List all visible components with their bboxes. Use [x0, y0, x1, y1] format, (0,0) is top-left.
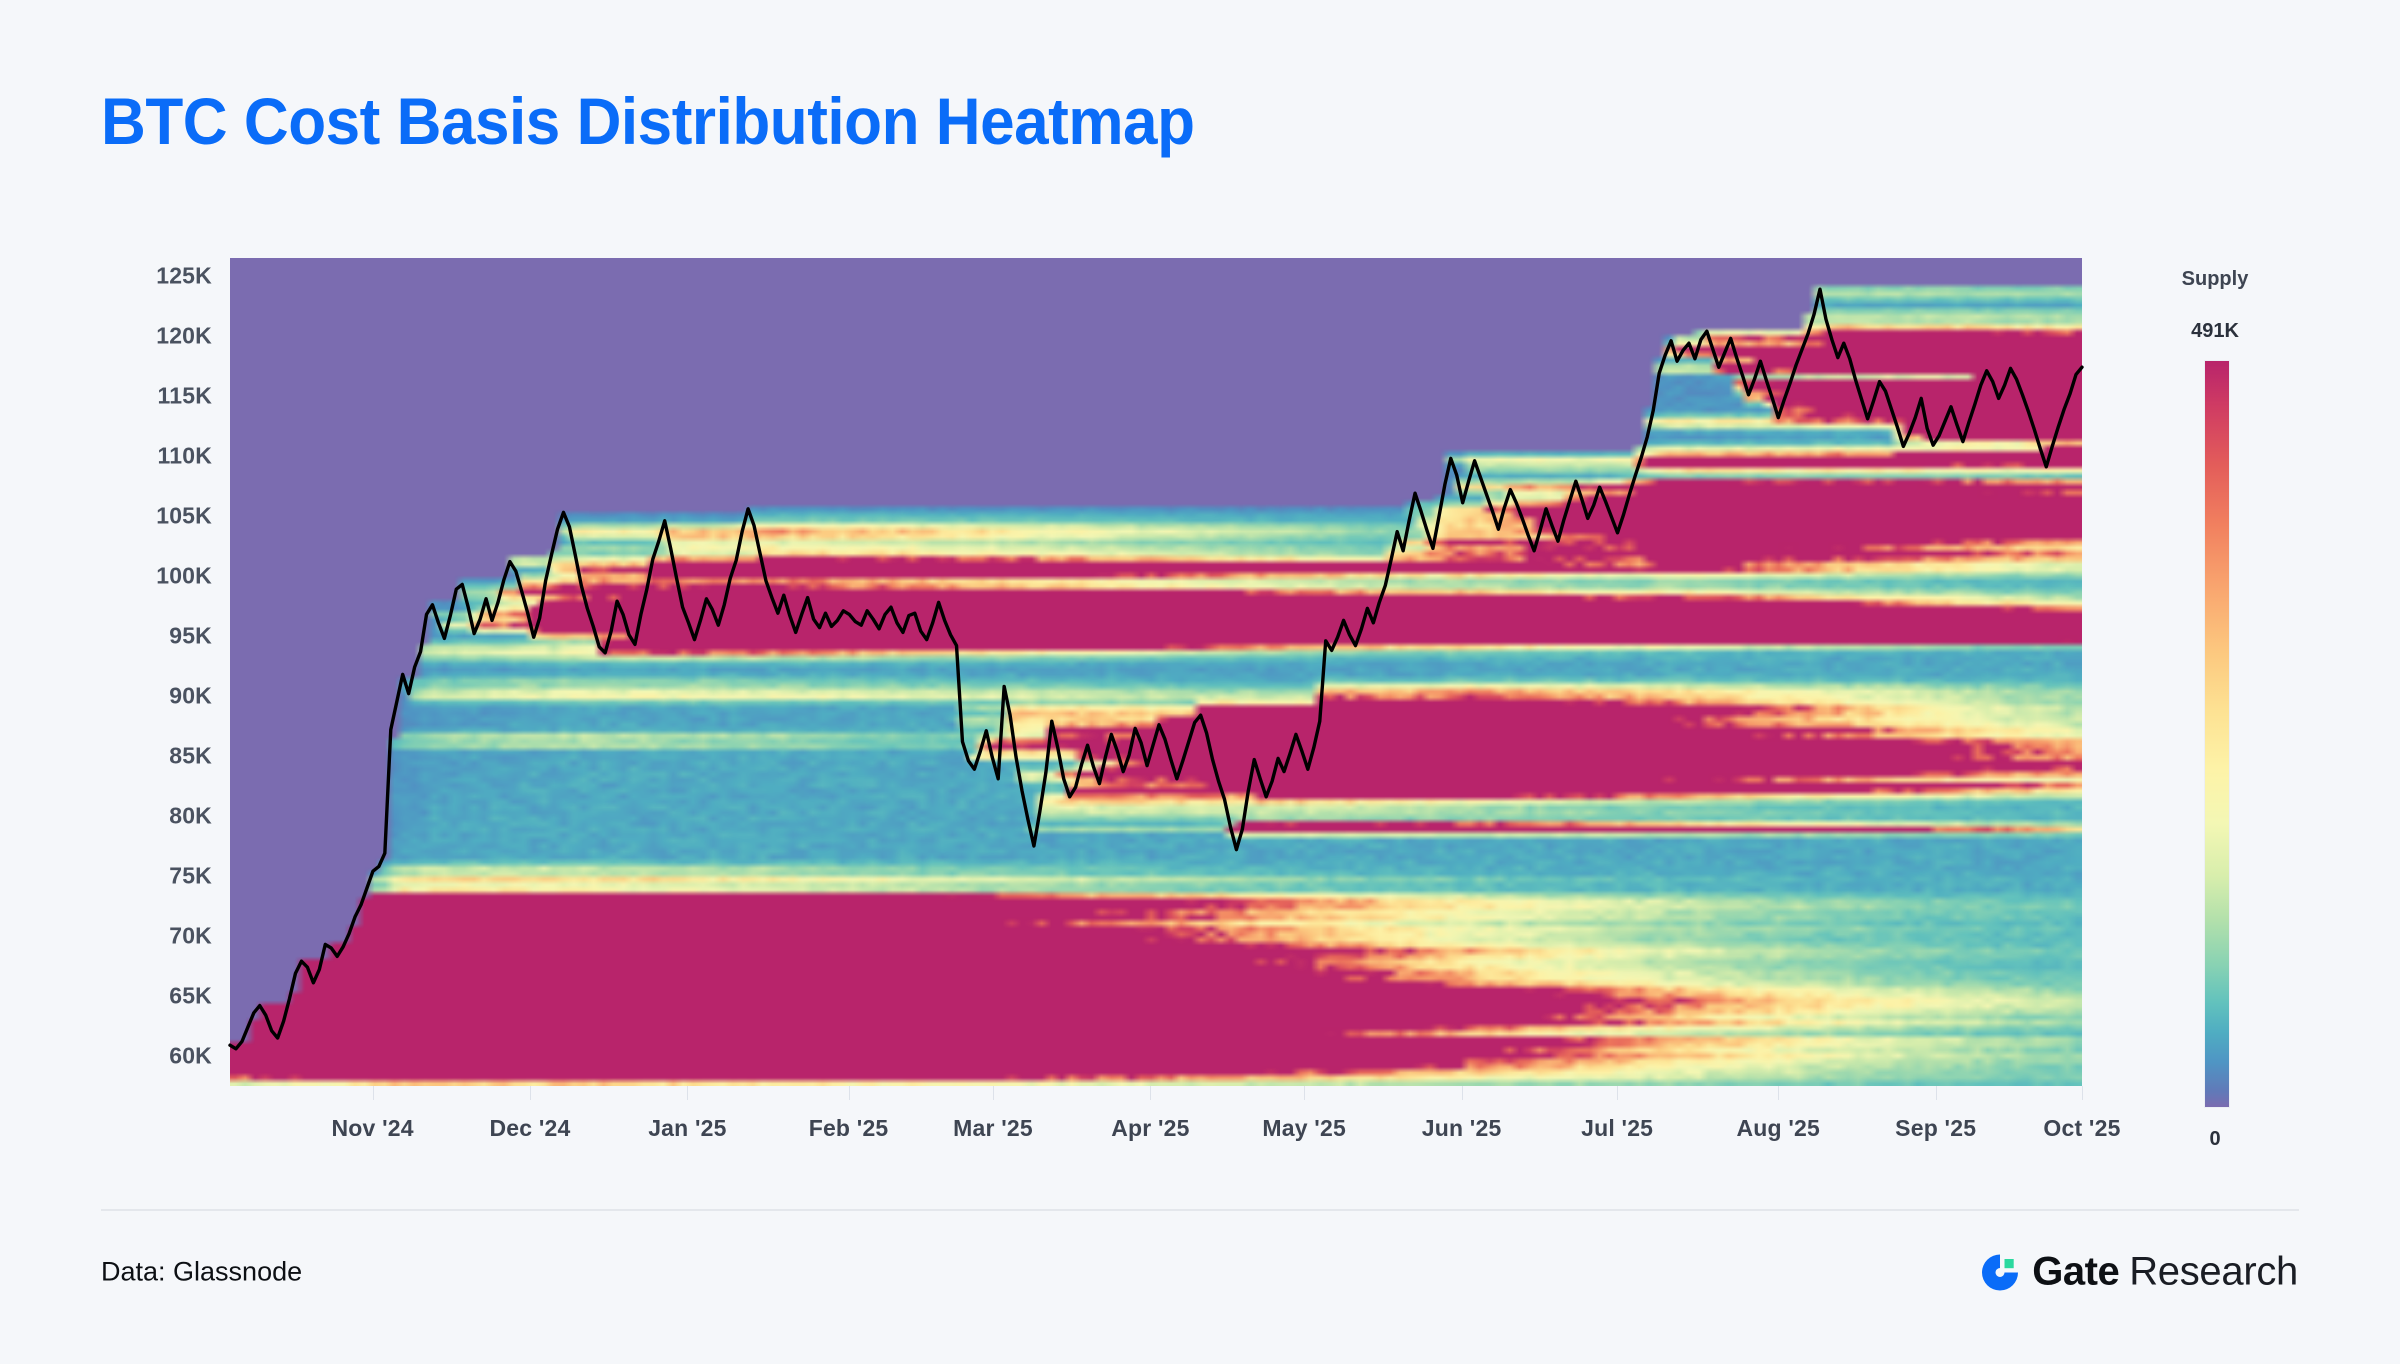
chart-page: BTC Cost Basis Distribution Heatmap 125K…	[0, 0, 2400, 1364]
gate-logo-mark-icon	[1978, 1250, 2022, 1294]
y-tick-label: 125K	[102, 263, 212, 290]
x-tick-label: May '25	[1262, 1115, 1346, 1142]
x-tick-label: Oct '25	[2043, 1115, 2120, 1142]
x-tick-mark	[1778, 1086, 1779, 1100]
x-tick-mark	[2082, 1086, 2083, 1100]
colorbar-title: Supply	[2150, 268, 2280, 291]
data-source-label: Data: Glassnode	[101, 1257, 302, 1288]
colorbar-min-label: 0	[2150, 1128, 2280, 1151]
y-tick-label: 115K	[102, 383, 212, 410]
y-tick-label: 85K	[102, 743, 212, 770]
y-tick-label: 80K	[102, 803, 212, 830]
x-tick-label: Mar '25	[953, 1115, 1033, 1142]
research-wordmark: Research	[2129, 1250, 2298, 1295]
x-tick-mark	[687, 1086, 688, 1100]
y-tick-label: 105K	[102, 503, 212, 530]
y-tick-label: 100K	[102, 563, 212, 590]
x-tick-label: Apr '25	[1111, 1115, 1189, 1142]
colorbar-legend: Supply 491K 0	[2150, 258, 2340, 1138]
x-tick-mark	[849, 1086, 850, 1100]
gate-research-logo: Gate Research	[1978, 1250, 2298, 1295]
x-tick-mark	[1617, 1086, 1618, 1100]
y-tick-label: 60K	[102, 1043, 212, 1070]
page-title: BTC Cost Basis Distribution Heatmap	[101, 88, 1195, 154]
footer-divider	[101, 1209, 2299, 1211]
x-tick-mark	[1462, 1086, 1463, 1100]
x-tick-mark	[1936, 1086, 1937, 1100]
y-tick-label: 90K	[102, 683, 212, 710]
x-tick-mark	[1304, 1086, 1305, 1100]
y-tick-label: 75K	[102, 863, 212, 890]
heatmap-canvas[interactable]	[230, 258, 2082, 1086]
x-tick-label: Jan '25	[648, 1115, 726, 1142]
x-tick-mark	[1150, 1086, 1151, 1100]
y-tick-label: 110K	[102, 443, 212, 470]
y-tick-label: 65K	[102, 983, 212, 1010]
x-tick-label: Nov '24	[331, 1115, 413, 1142]
heatmap-plot-area[interactable]	[230, 258, 2082, 1086]
x-tick-mark	[373, 1086, 374, 1100]
x-tick-label: Sep '25	[1895, 1115, 1976, 1142]
x-tick-label: Dec '24	[489, 1115, 570, 1142]
colorbar-max-label: 491K	[2150, 320, 2280, 343]
y-tick-label: 70K	[102, 923, 212, 950]
x-tick-mark	[993, 1086, 994, 1100]
x-tick-label: Feb '25	[809, 1115, 889, 1142]
x-tick-label: Jun '25	[1422, 1115, 1502, 1142]
y-axis: 125K120K115K110K105K100K95K90K85K80K75K7…	[100, 0, 212, 1364]
colorbar-gradient-bar	[2204, 360, 2230, 1108]
x-tick-mark	[530, 1086, 531, 1100]
y-tick-label: 95K	[102, 623, 212, 650]
y-tick-label: 120K	[102, 323, 212, 350]
x-tick-label: Jul '25	[1581, 1115, 1653, 1142]
x-tick-label: Aug '25	[1736, 1115, 1820, 1142]
gate-wordmark: Gate	[2032, 1250, 2119, 1295]
